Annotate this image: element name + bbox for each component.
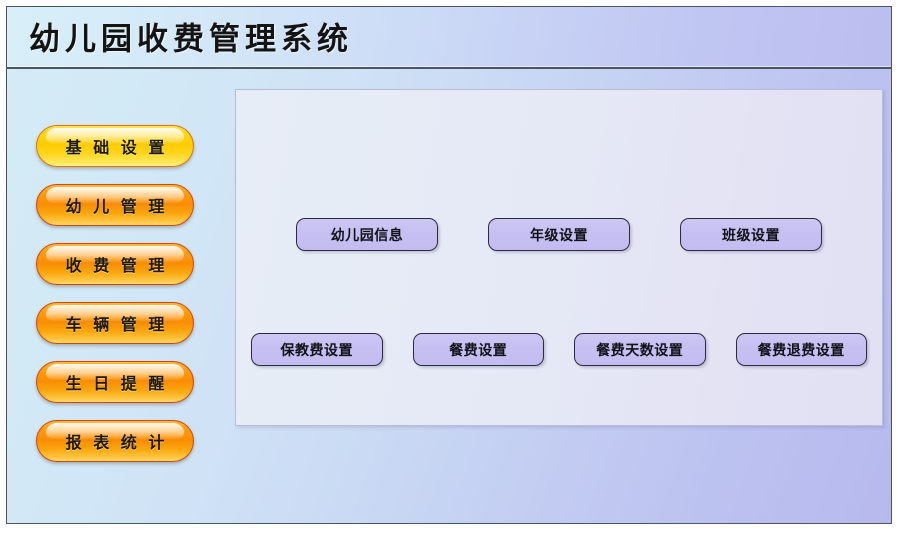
action-button-grade-settings[interactable]: 年级设置 — [488, 218, 630, 251]
sidebar-item-vehicle-management[interactable]: 车 辆 管 理 — [36, 302, 194, 344]
action-button-label: 年级设置 — [530, 225, 588, 245]
sidebar-item-label: 车 辆 管 理 — [37, 311, 193, 335]
action-button-kindergarten-info[interactable]: 幼儿园信息 — [296, 218, 438, 251]
action-button-label: 餐费设置 — [449, 340, 507, 360]
action-button-class-settings[interactable]: 班级设置 — [680, 218, 822, 251]
action-button-label: 餐费退费设置 — [758, 340, 845, 360]
action-button-label: 班级设置 — [722, 225, 780, 245]
sidebar-nav: 基 础 设 置 幼 儿 管 理 收 费 管 理 车 辆 管 理 生 日 提 醒 … — [7, 71, 223, 523]
content-panel: 幼儿园信息 年级设置 班级设置 保教费设置 餐费设置 餐费天数设置 餐费退费设置 — [235, 89, 883, 426]
sidebar-item-label: 报 表 统 计 — [37, 429, 193, 453]
application-window: 幼儿园收费管理系统 基 础 设 置 幼 儿 管 理 收 费 管 理 车 辆 管 … — [6, 6, 892, 524]
action-button-row-2: 保教费设置 餐费设置 餐费天数设置 餐费退费设置 — [236, 333, 882, 366]
action-button-label: 餐费天数设置 — [596, 340, 683, 360]
sidebar-item-birthday-reminder[interactable]: 生 日 提 醒 — [36, 361, 194, 403]
action-button-label: 幼儿园信息 — [331, 225, 404, 245]
sidebar-item-label: 生 日 提 醒 — [37, 370, 193, 394]
sidebar-item-child-management[interactable]: 幼 儿 管 理 — [36, 184, 194, 226]
sidebar-item-fee-management[interactable]: 收 费 管 理 — [36, 243, 194, 285]
page-title: 幼儿园收费管理系统 — [29, 14, 353, 59]
action-button-label: 保教费设置 — [281, 340, 354, 360]
sidebar-item-label: 幼 儿 管 理 — [37, 193, 193, 217]
action-button-tuition-fee-settings[interactable]: 保教费设置 — [251, 333, 383, 366]
action-button-meal-days-settings[interactable]: 餐费天数设置 — [574, 333, 706, 366]
action-button-meal-fee-settings[interactable]: 餐费设置 — [413, 333, 545, 366]
title-bar: 幼儿园收费管理系统 — [7, 7, 891, 69]
sidebar-item-report-statistics[interactable]: 报 表 统 计 — [36, 420, 194, 462]
action-button-row-1: 幼儿园信息 年级设置 班级设置 — [236, 218, 882, 251]
sidebar-item-label: 基 础 设 置 — [37, 134, 193, 158]
action-button-meal-refund-settings[interactable]: 餐费退费设置 — [736, 333, 868, 366]
sidebar-item-basic-settings[interactable]: 基 础 设 置 — [36, 125, 194, 167]
sidebar-item-label: 收 费 管 理 — [37, 252, 193, 276]
